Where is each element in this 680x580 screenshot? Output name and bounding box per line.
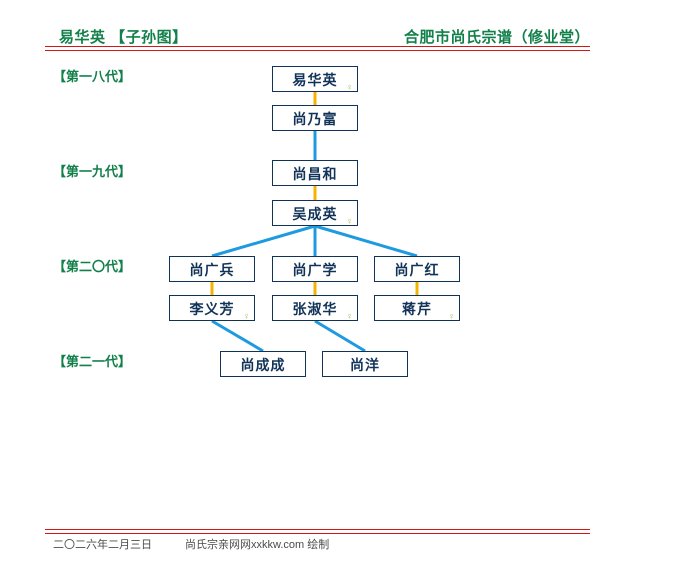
person-name: 李义芳 [190,297,235,321]
female-marker-icon: ♀ [448,311,455,321]
person-name: 尚广红 [395,258,440,282]
descent-line-3 [315,226,417,256]
person-node[interactable]: 尚广红 [374,256,460,282]
person-node[interactable]: 易华英♀ [272,66,358,92]
female-marker-icon: ♀ [346,311,353,321]
person-node[interactable]: 尚成成 [220,351,306,377]
footer-credit: 尚氏宗亲网网xxkkw.com 绘制 [185,536,329,552]
person-name: 尚成成 [241,353,286,377]
female-marker-icon: ♀ [243,311,250,321]
person-node[interactable]: 尚乃富 [272,105,358,131]
generation-label-3: 【第二一代】 [53,351,131,370]
person-name: 尚乃富 [293,107,338,131]
descent-line-4 [212,321,263,351]
person-node[interactable]: 吴成英♀ [272,200,358,226]
person-node[interactable]: 李义芳♀ [169,295,255,321]
footer-date: 二〇二六年二月三日 [53,536,152,552]
footer-divider [45,529,590,534]
person-node[interactable]: 尚洋 [322,351,408,377]
person-name: 尚广兵 [190,258,235,282]
person-name: 张淑华 [293,297,338,321]
page-footer: 二〇二六年二月三日 尚氏宗亲网网xxkkw.com 绘制 [45,536,590,554]
person-name: 吴成英 [293,202,338,226]
person-node[interactable]: 尚昌和 [272,160,358,186]
person-node[interactable]: 张淑华♀ [272,295,358,321]
female-marker-icon: ♀ [346,82,353,92]
person-node[interactable]: 蒋芹♀ [374,295,460,321]
person-name: 尚洋 [350,353,380,377]
person-name: 尚广学 [293,258,338,282]
person-name: 易华英 [293,68,338,92]
generation-label-0: 【第一八代】 [53,66,131,85]
descent-line-2 [212,226,315,256]
person-name: 蒋芹 [402,297,432,321]
generation-label-2: 【第二〇代】 [53,256,131,275]
person-name: 尚昌和 [293,162,338,186]
descent-line-5 [315,321,365,351]
female-marker-icon: ♀ [346,216,353,226]
generation-label-1: 【第一九代】 [53,161,131,180]
person-node[interactable]: 尚广兵 [169,256,255,282]
person-node[interactable]: 尚广学 [272,256,358,282]
family-tree: 易华英♀尚乃富尚昌和吴成英♀尚广兵尚广学尚广红李义芳♀张淑华♀蒋芹♀尚成成尚洋 [0,0,680,580]
